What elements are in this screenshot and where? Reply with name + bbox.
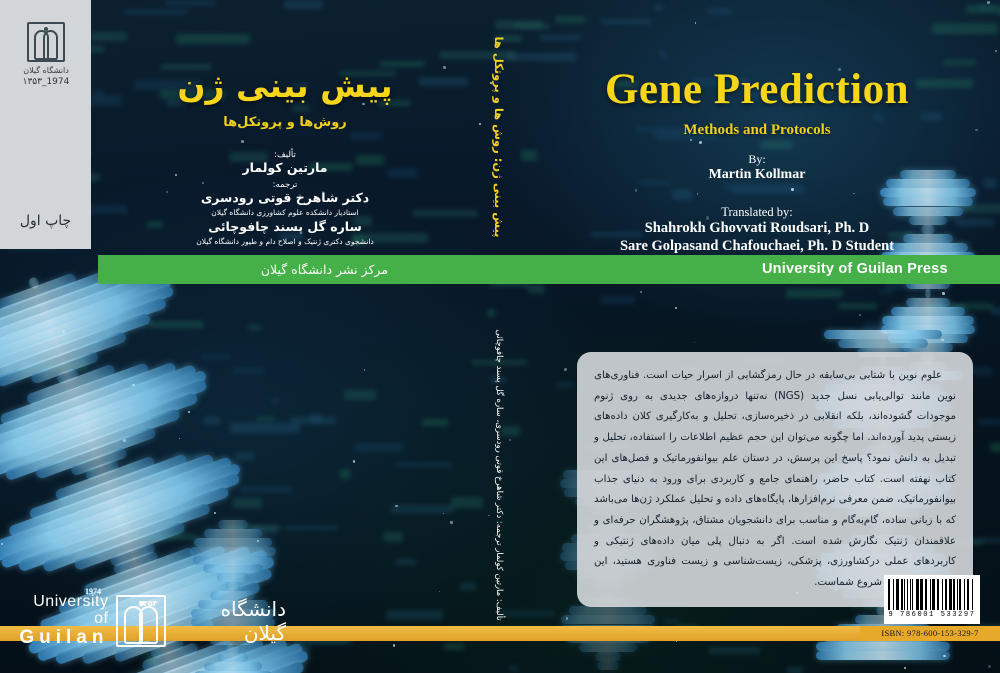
- back-subtitle-fa: روش‌ها و پروتکل‌ها: [110, 115, 460, 130]
- barcode-digits: 9 786001 533297: [888, 611, 976, 619]
- front-by-label: By:: [528, 152, 986, 167]
- flap-logo-name: دانشگاه گیلان: [19, 66, 73, 75]
- guilan-emblem-icon: [27, 22, 65, 62]
- front-title: Gene Prediction: [528, 65, 986, 114]
- back-translator1-affiliation: استادیار دانشکده علوم کشاورزی دانشگاه گی…: [110, 208, 460, 217]
- isbn-label: ISBN: 978-600-153-329-7: [860, 626, 1000, 641]
- university-logo-line2: Guilan: [16, 628, 108, 648]
- book-spine: پیش بینی ژن: روش ها و پروتکل ها تألیف: م…: [470, 0, 528, 673]
- university-logo-fa: دانشگاه گیلان: [174, 597, 286, 645]
- flap-logo-years: ۱۳۵۳_1974: [19, 77, 73, 87]
- spine-authors: تألیف: مارتین کولمار ترجمه: دکتر شاهرخ ق…: [494, 329, 504, 620]
- university-logo-line1: University of: [16, 594, 108, 628]
- barcode: 9 786001 533297: [884, 575, 980, 624]
- university-logo-en: University of Guilan: [16, 594, 108, 648]
- university-logo-year-fa: ۱۳۵۳: [138, 599, 158, 608]
- front-translator2: Sare Golpasand Chafouchaei, Ph. D Studen…: [528, 238, 986, 255]
- back-cover-description: علوم نوین با شتابی بی‌سابقه در حال رمزگش…: [577, 352, 973, 607]
- publisher-name-en: University of Guilan Press: [762, 255, 948, 284]
- front-subtitle: Methods and Protocols: [528, 122, 986, 139]
- spine-title: پیش بینی ژن: روش ها و پروتکل ها: [492, 37, 506, 238]
- university-logo-year-en: 1974: [85, 587, 101, 596]
- back-author-label: تألیف:: [110, 150, 460, 160]
- edition-label: چاپ اول: [0, 213, 91, 229]
- description-text: علوم نوین با شتابی بی‌سابقه در حال رمزگش…: [594, 366, 956, 594]
- back-translator-label: ترجمه:: [110, 180, 460, 190]
- flap-university-logo: دانشگاه گیلان ۱۳۵۳_1974: [19, 22, 73, 87]
- front-author-name: Martin Kollmar: [528, 167, 986, 183]
- back-translator2-affiliation: دانشجوی دکتری ژنتیک و اصلاح دام و طیور د…: [110, 237, 460, 246]
- back-translator1-name: دکتر شاهرخ قوتی رودسری: [110, 190, 460, 205]
- barcode-bars: [888, 579, 976, 610]
- publisher-name-fa: مرکز نشر دانشگاه گیلان: [261, 255, 388, 284]
- front-translator1: Shahrokh Ghovvati Roudsari, Ph. D: [528, 220, 986, 237]
- back-flap: دانشگاه گیلان ۱۳۵۳_1974 چاپ اول: [0, 0, 91, 249]
- university-logo: University of Guilan 1974 دانشگاه گیلان …: [16, 585, 286, 657]
- back-author-name: مارتین کولمار: [110, 160, 460, 175]
- back-title-fa: پیش بینی ژن: [110, 66, 460, 105]
- book-cover: دانشگاه گیلان ۱۳۵۳_1974 چاپ اول مرکز نشر…: [0, 0, 1000, 673]
- publisher-band: مرکز نشر دانشگاه گیلان University of Gui…: [98, 255, 1000, 284]
- back-translator2-name: ساره گل پسند چافوچائی: [110, 219, 460, 234]
- front-translated-label: Translated by:: [528, 205, 986, 220]
